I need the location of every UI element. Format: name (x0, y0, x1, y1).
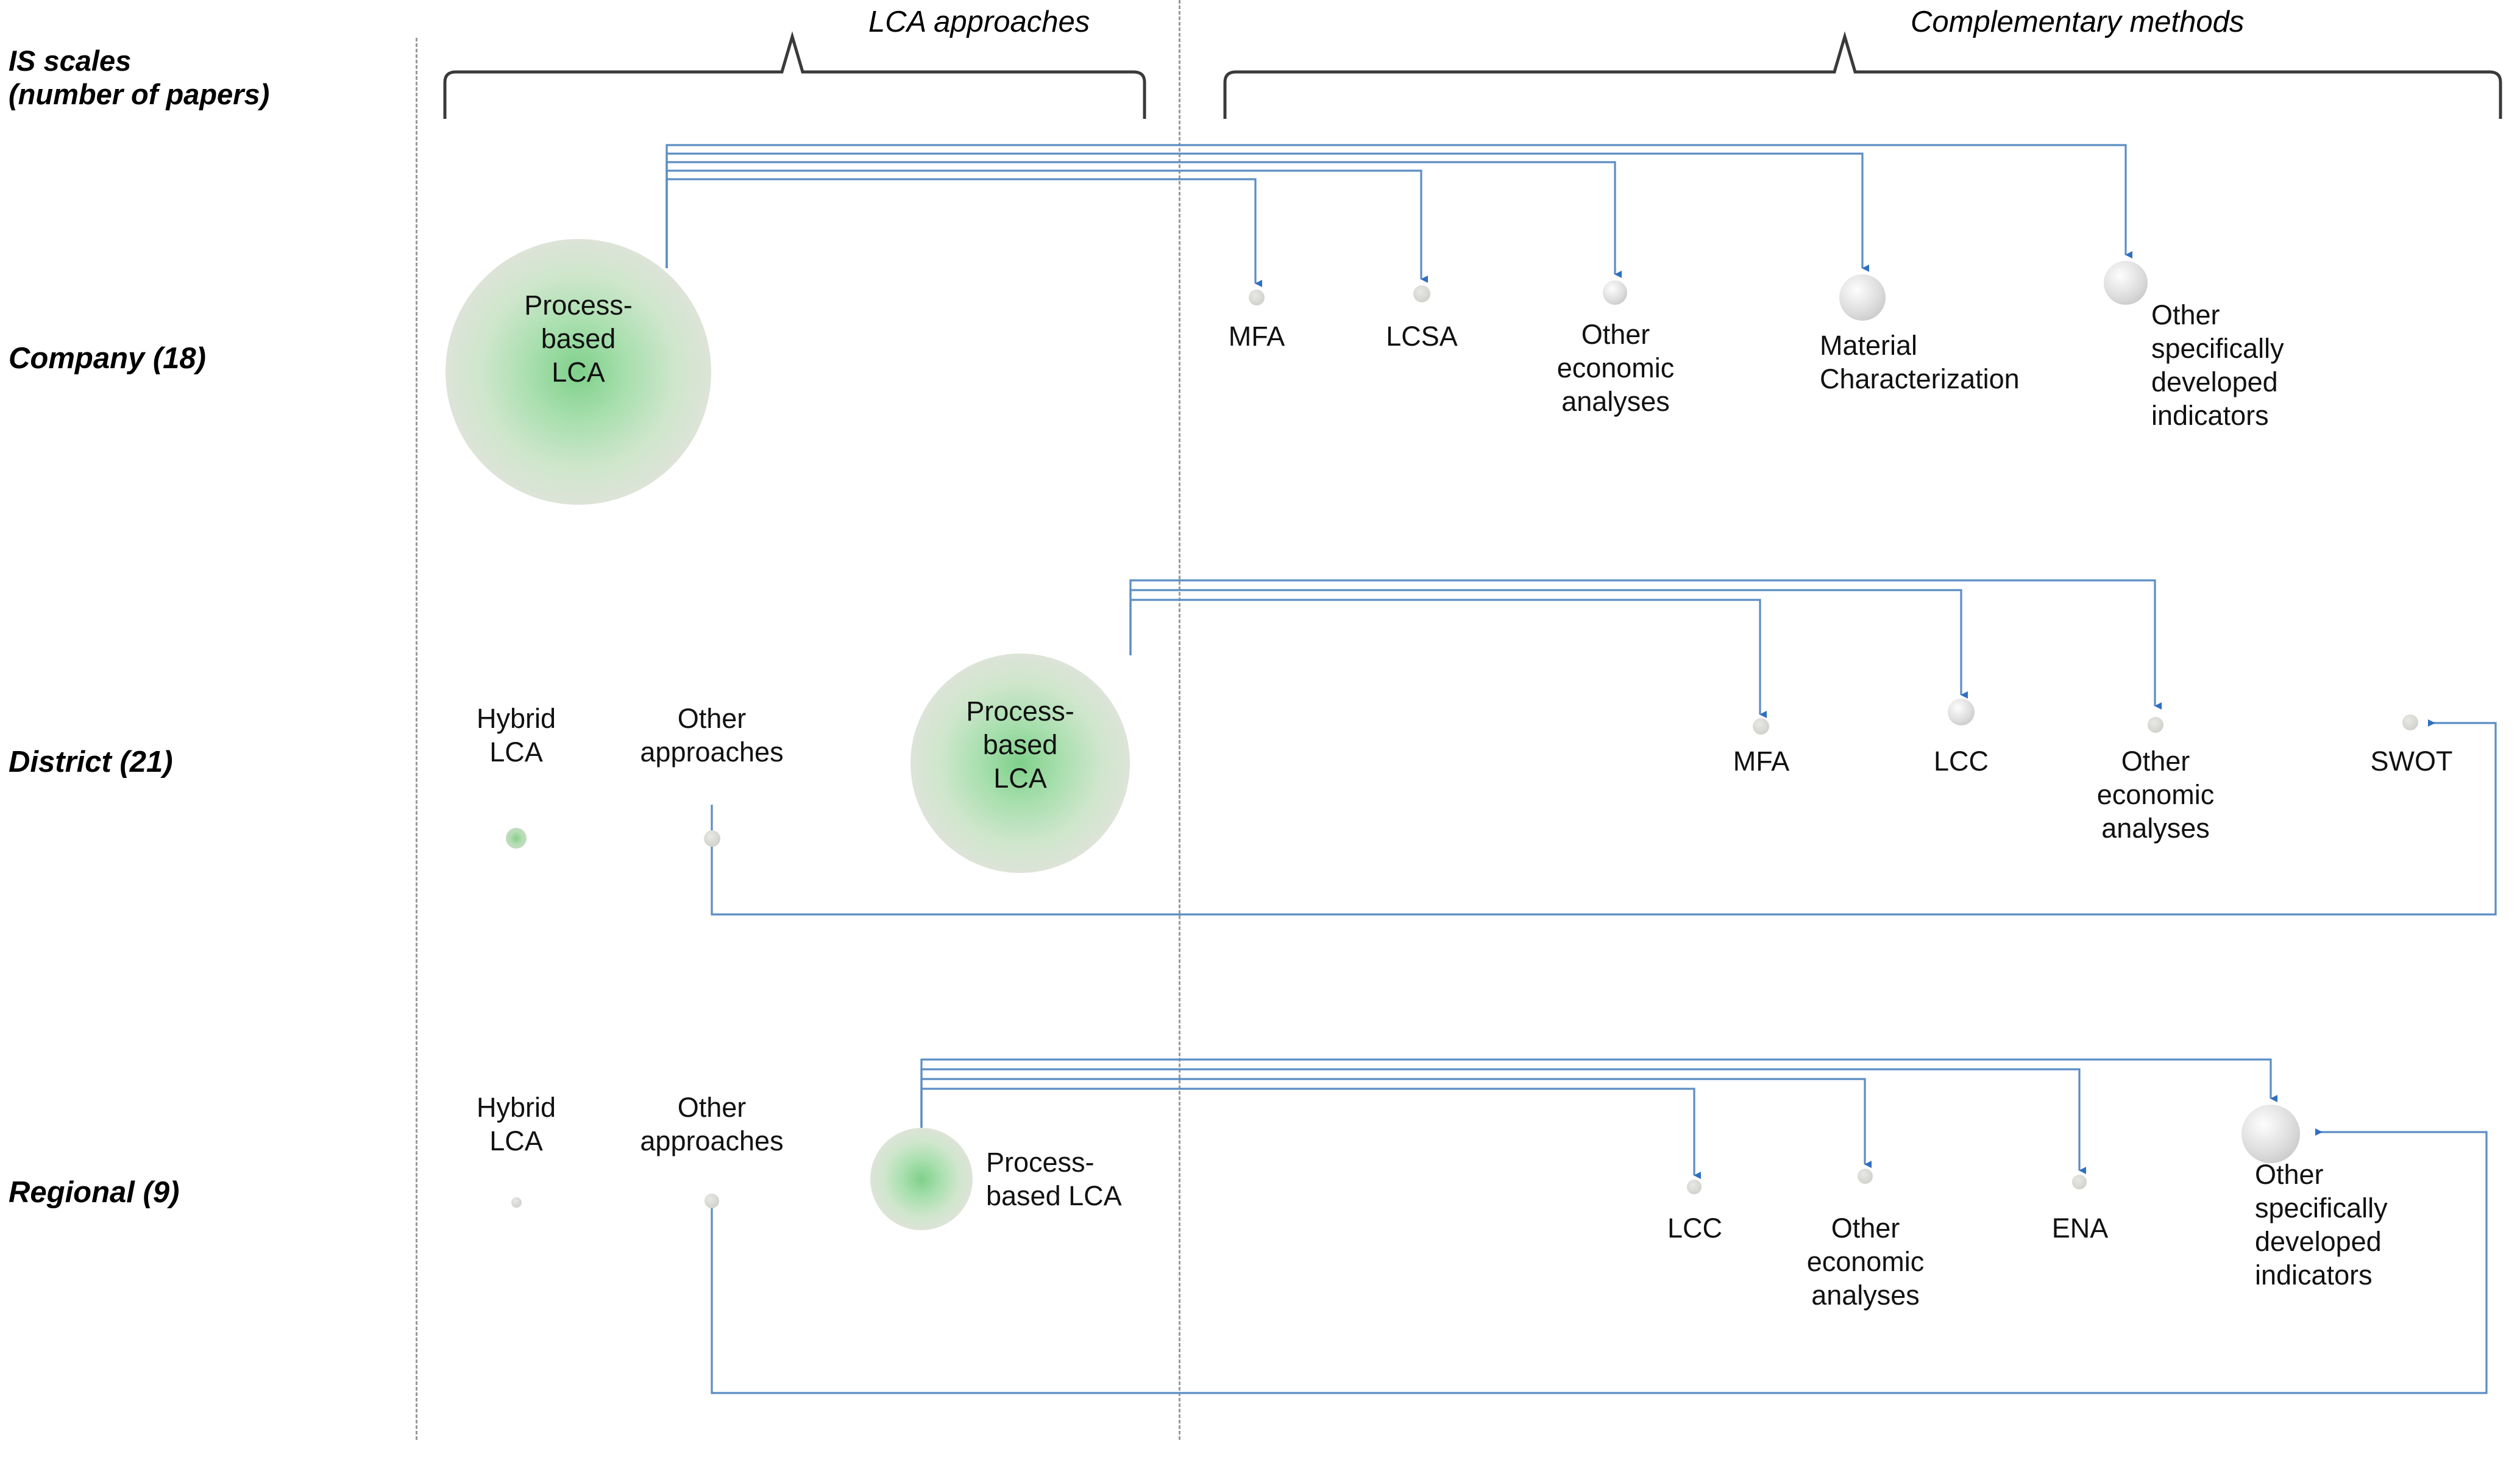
column-divider-left (416, 38, 417, 1440)
bubble-regional-hybrid-lca[interactable] (511, 1197, 522, 1208)
bubble-district-swot[interactable] (2402, 714, 2418, 730)
column-divider-right (1179, 0, 1180, 1440)
bubble-company-other-economic-analyses[interactable] (1603, 280, 1627, 305)
label-company-other-specifically-developed-indicators: Other specifically developed indicators (2151, 299, 2383, 433)
label-company-lcsa: LCSA (1358, 320, 1486, 354)
bubble-district-other-approaches[interactable] (704, 830, 720, 847)
label-company-material-characterization: Material Characterization (1820, 329, 2088, 396)
label-company-mfa: MFA (1193, 320, 1321, 354)
bubble-regional-lcc[interactable] (1687, 1180, 1702, 1194)
bubble-regional-other-approaches[interactable] (705, 1194, 719, 1208)
bubble-company-mfa[interactable] (1249, 290, 1265, 305)
label-regional-ena: ENA (2016, 1212, 2144, 1245)
label-regional-other-approaches: Other approaches (626, 1091, 797, 1158)
row-label-company: Company (18) (9, 341, 206, 376)
label-district-other-economic-analyses: Other economic analyses (2076, 745, 2235, 846)
bubble-district-lcc[interactable] (1948, 699, 1975, 725)
label-district-hybrid-lca: Hybrid LCA (452, 702, 580, 769)
label-district-mfa: MFA (1697, 745, 1825, 778)
label-company-other-economic-analyses: Other economic analyses (1536, 318, 1695, 419)
bubble-district-mfa[interactable] (1753, 718, 1769, 735)
bubble-company-other-specifically-developed-indicators[interactable] (2104, 261, 2148, 305)
bubble-regional-other-economic-analyses[interactable] (1858, 1169, 1873, 1184)
label-district-swot: SWOT (2348, 745, 2476, 778)
label-regional-other-economic-analyses: Other economic analyses (1786, 1212, 1945, 1313)
diagram-canvas: IS scales (number of papers) LCA approac… (0, 0, 2520, 1457)
label-regional-lcc: LCC (1631, 1212, 1759, 1245)
bubble-regional-ena[interactable] (2072, 1175, 2087, 1189)
row-label-regional: Regional (9) (9, 1175, 179, 1209)
axis-title: IS scales (number of papers) (9, 44, 269, 112)
label-company-process-based-lca: Process- based LCA (481, 289, 676, 390)
group-label-lca-approaches: LCA approaches (868, 5, 1090, 39)
row-label-district: District (21) (9, 745, 173, 779)
label-regional-process-based-lca: Process- based LCA (986, 1146, 1187, 1213)
bubble-district-hybrid-lca[interactable] (506, 828, 527, 849)
label-regional-hybrid-lca: Hybrid LCA (452, 1091, 580, 1158)
bubble-company-lcsa[interactable] (1413, 285, 1430, 302)
label-district-process-based-lca: Process- based LCA (937, 695, 1103, 796)
bubble-company-material-characterization[interactable] (1839, 274, 1886, 321)
group-label-complementary-methods: Complementary methods (1911, 5, 2244, 39)
label-district-lcc: LCC (1897, 745, 2025, 778)
label-regional-other-specifically-developed-indicators: Other specifically developed indicators (2255, 1158, 2486, 1292)
label-district-other-approaches: Other approaches (626, 702, 797, 769)
bubble-district-other-economic-analyses[interactable] (2148, 717, 2163, 733)
bubble-regional-other-specifically-developed-indicators[interactable] (2241, 1105, 2300, 1163)
bubble-regional-process-based-lca[interactable] (870, 1128, 973, 1230)
